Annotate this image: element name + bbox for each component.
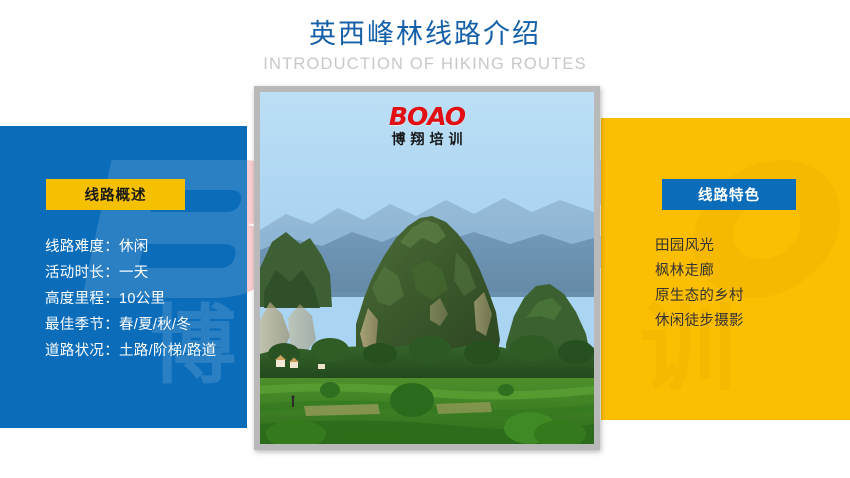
scenery-photo-graphic bbox=[260, 92, 594, 444]
list-item: 线路难度：休闲 bbox=[45, 234, 216, 260]
route-overview-badge-label: 线路概述 bbox=[85, 184, 147, 205]
list-item: 道路状况：土路/阶梯/路道 bbox=[45, 338, 216, 364]
scenery-photo-frame[interactable]: BOAO 博翔培训 bbox=[254, 86, 600, 450]
page-title: 英西峰林线路介绍 INTRODUCTION OF HIKING ROUTES bbox=[0, 18, 850, 75]
route-features-badge[interactable]: 线路特色 bbox=[662, 179, 796, 210]
route-overview-panel: 博 翔 线路概述 线路难度：休闲 活动时长：一天 高度里程：10公里 最佳季节：… bbox=[0, 126, 247, 428]
list-item: 高度里程：10公里 bbox=[45, 286, 216, 312]
list-item: 原生态的乡村 bbox=[655, 284, 744, 309]
route-features-list: 田园风光 枫林走廊 原生态的乡村 休闲徒步摄影 bbox=[655, 234, 744, 334]
route-features-panel: 训 线路特色 田园风光 枫林走廊 原生态的乡村 休闲徒步摄影 bbox=[601, 118, 850, 420]
list-item: 枫林走廊 bbox=[655, 259, 744, 284]
list-item: 活动时长：一天 bbox=[45, 260, 216, 286]
title-chinese: 英西峰林线路介绍 bbox=[0, 18, 850, 52]
list-item: 田园风光 bbox=[655, 234, 744, 259]
route-features-badge-label: 线路特色 bbox=[698, 184, 760, 205]
scenery-photo: BOAO 博翔培训 bbox=[260, 92, 594, 444]
route-overview-list: 线路难度：休闲 活动时长：一天 高度里程：10公里 最佳季节：春/夏/秋/冬 道… bbox=[45, 234, 216, 364]
title-english: INTRODUCTION OF HIKING ROUTES bbox=[0, 55, 850, 75]
route-overview-badge[interactable]: 线路概述 bbox=[46, 179, 185, 210]
list-item: 最佳季节：春/夏/秋/冬 bbox=[45, 312, 216, 338]
slide-canvas: 博 翔 培 训 英西峰林线路介绍 INTRODUCTION OF HIKING … bbox=[0, 0, 850, 478]
list-item: 休闲徒步摄影 bbox=[655, 309, 744, 334]
